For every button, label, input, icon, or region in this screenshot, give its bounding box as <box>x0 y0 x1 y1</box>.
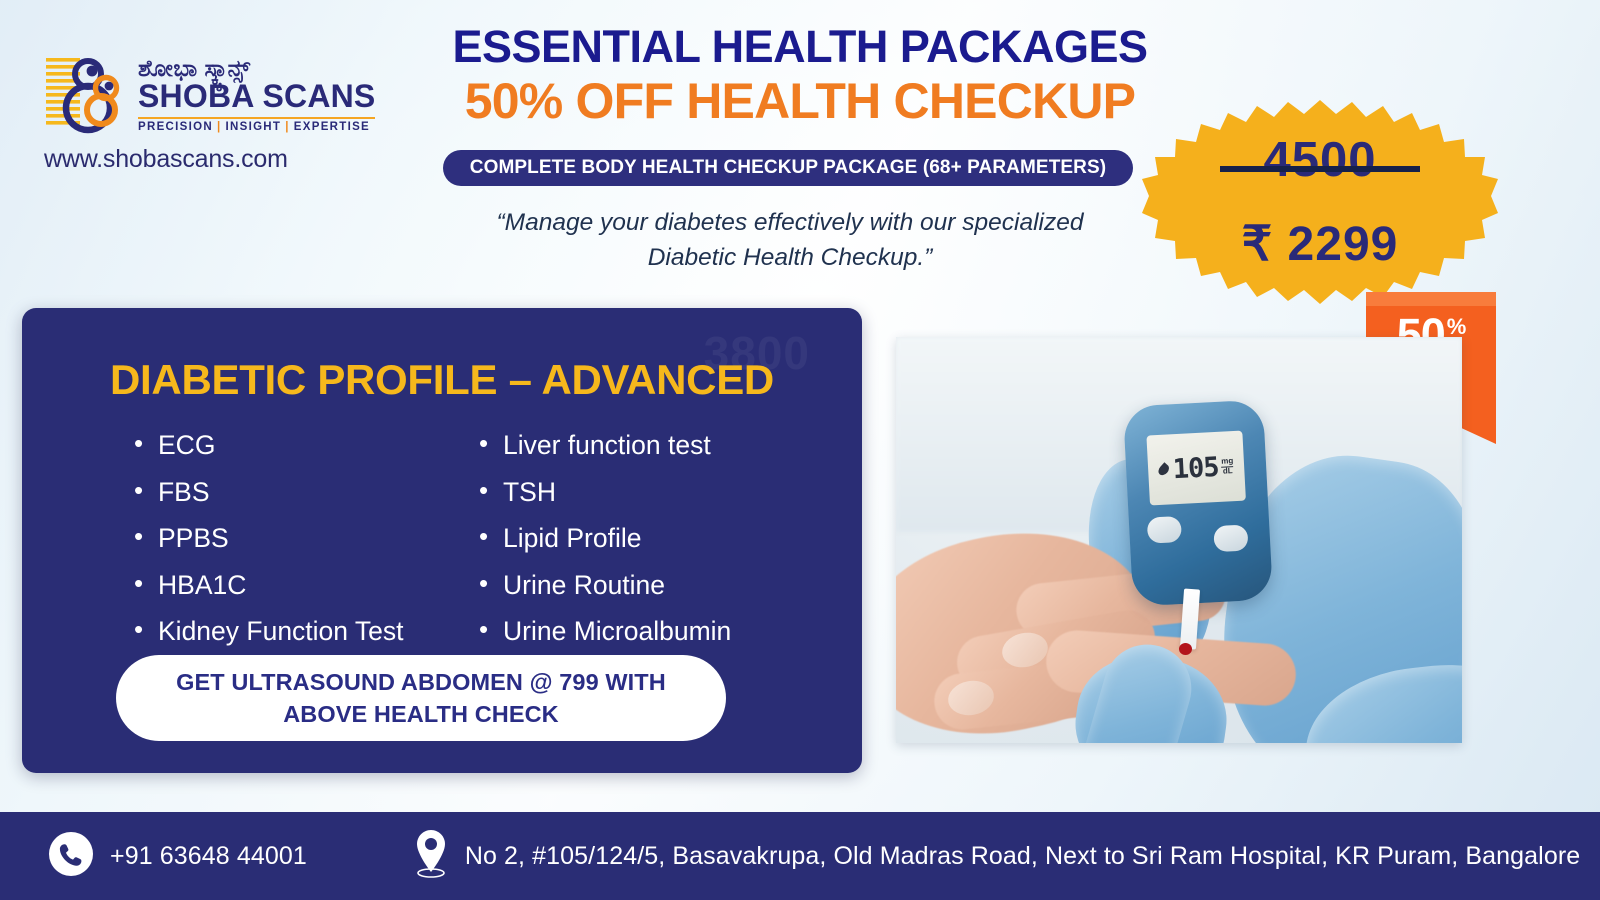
contact-footer-bar: +91 63648 44001 No 2, #105/124/5, Basava… <box>0 812 1600 900</box>
footer-address-group[interactable]: No 2, #105/124/5, Basavakrupa, Old Madra… <box>411 828 1580 885</box>
list-item: FBS <box>132 479 477 506</box>
headline-offer: 50% OFF HEALTH CHECKUP <box>420 76 1180 126</box>
tagline-separator-1: | <box>213 121 226 133</box>
price-original: 4500 <box>1140 132 1500 188</box>
glucometer-device: 105 mg dL <box>1123 399 1273 606</box>
brand-name-english: SHOBA SCANS <box>138 80 375 114</box>
promo-quote: “Manage your diabetes effectively with o… <box>450 206 1130 276</box>
price-discounted: ₹ 2299 <box>1140 216 1500 272</box>
unit-denominator: dL <box>1221 466 1233 476</box>
shoba-scans-logo-icon <box>44 52 130 136</box>
cta-line-1: GET ULTRASOUND ABDOMEN @ 799 WITH <box>176 669 666 695</box>
tests-list-column-right: Liver function test TSH Lipid Profile Ur… <box>477 432 822 665</box>
cta-line-2: ABOVE HEALTH CHECK <box>283 701 559 727</box>
price-strikethrough-line <box>1220 166 1420 172</box>
tagline-insight: INSIGHT <box>226 121 282 133</box>
list-item: Liver function test <box>477 432 822 459</box>
blood-drop-icon <box>1156 462 1171 477</box>
website-url[interactable]: www.shobascans.com <box>44 145 404 174</box>
ribbon-percent-symbol: % <box>1447 314 1466 339</box>
footer-phone-number: +91 63648 44001 <box>110 842 307 871</box>
glucometer-button-right <box>1213 524 1248 552</box>
headline-primary: ESSENTIAL HEALTH PACKAGES <box>420 24 1180 69</box>
list-item: Urine Microalbumin <box>477 618 822 645</box>
panel-title: DIABETIC PROFILE – ADVANCED <box>22 356 862 404</box>
glucometer-blood-test-photo: 105 mg dL <box>896 337 1462 743</box>
tests-list-column-left: ECG FBS PPBS HBA1C Kidney Function Test <box>132 432 477 665</box>
diabetic-profile-panel: 3800 DIABETIC PROFILE – ADVANCED ECG FBS… <box>22 308 862 773</box>
list-item: Urine Routine <box>477 572 822 599</box>
tagline-precision: PRECISION <box>138 121 213 133</box>
promo-quote-line-2: Diabetic Health Checkup.” <box>450 241 1130 276</box>
logo-divider <box>138 117 375 119</box>
brand-logo-block[interactable]: ಶೋಭಾ ಸ್ಕ್ಯಾನ್ಸ್ SHOBA SCANS PRECISION|IN… <box>44 52 404 174</box>
glucometer-display: 105 mg dL <box>1146 431 1246 506</box>
package-subtitle-pill: COMPLETE BODY HEALTH CHECKUP PACKAGE (68… <box>443 150 1133 186</box>
brand-name-kannada: ಶೋಭಾ ಸ್ಕ್ಯಾನ್ಸ್ <box>138 56 375 80</box>
tagline-separator-2: | <box>281 121 294 133</box>
list-item: ECG <box>132 432 477 459</box>
glucometer-button-left <box>1147 516 1182 544</box>
poster-canvas: ಶೋಭಾ ಸ್ಕ್ಯಾನ್ಸ್ SHOBA SCANS PRECISION|IN… <box>0 0 1600 900</box>
phone-icon <box>48 831 94 882</box>
list-item: Kidney Function Test <box>132 618 477 645</box>
promo-quote-line-1: “Manage your diabetes effectively with o… <box>450 206 1130 241</box>
list-item: Lipid Profile <box>477 525 822 552</box>
list-item: HBA1C <box>132 572 477 599</box>
glucose-reading-value: 105 <box>1172 453 1219 482</box>
footer-phone-group[interactable]: +91 63648 44001 <box>48 831 307 882</box>
location-pin-icon <box>411 828 451 885</box>
list-item: TSH <box>477 479 822 506</box>
footer-address-text: No 2, #105/124/5, Basavakrupa, Old Madra… <box>465 842 1580 871</box>
ultrasound-offer-button[interactable]: GET ULTRASOUND ABDOMEN @ 799 WITH ABOVE … <box>116 655 726 741</box>
blood-sample-drop <box>1179 643 1192 655</box>
glucose-reading-unit: mg dL <box>1221 457 1234 475</box>
tests-list: ECG FBS PPBS HBA1C Kidney Function Test … <box>132 432 822 665</box>
tagline-expertise: EXPERTISE <box>294 121 370 133</box>
brand-tagline: PRECISION|INSIGHT|EXPERTISE <box>138 121 375 133</box>
unit-numerator: mg <box>1221 456 1233 466</box>
list-item: PPBS <box>132 525 477 552</box>
